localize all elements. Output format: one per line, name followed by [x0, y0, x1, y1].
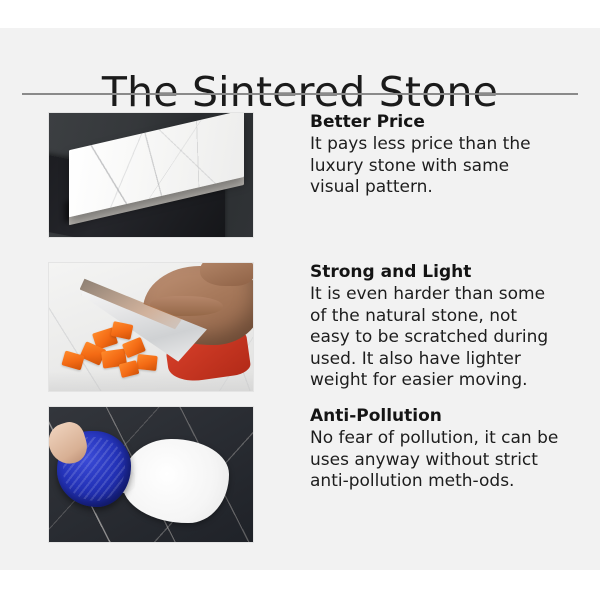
feature-image-cloth-wiping-milk	[48, 406, 254, 543]
feature-image-knife-cutting-carrots	[48, 262, 254, 392]
feature-heading: Better Price	[310, 112, 562, 133]
carrot-cube	[136, 354, 158, 371]
feature-heading: Strong and Light	[310, 262, 562, 283]
feature-body: It pays less price than the luxury stone…	[310, 134, 562, 199]
feature-text-better-price: Better Price It pays less price than the…	[310, 112, 562, 199]
product-feature-page: The Sintered Stone Better Price It pays …	[0, 0, 600, 600]
feature-body: No fear of pollution, it can be uses any…	[310, 428, 562, 493]
feature-text-strong-and-light: Strong and Light It is even harder than …	[310, 262, 562, 392]
feature-image-sintered-stone-slab	[48, 112, 254, 238]
title-divider	[22, 93, 578, 95]
feature-body: It is even harder than some of the natur…	[310, 284, 562, 392]
feature-heading: Anti-Pollution	[310, 406, 562, 427]
feature-text-anti-pollution: Anti-Pollution No fear of pollution, it …	[310, 406, 562, 493]
